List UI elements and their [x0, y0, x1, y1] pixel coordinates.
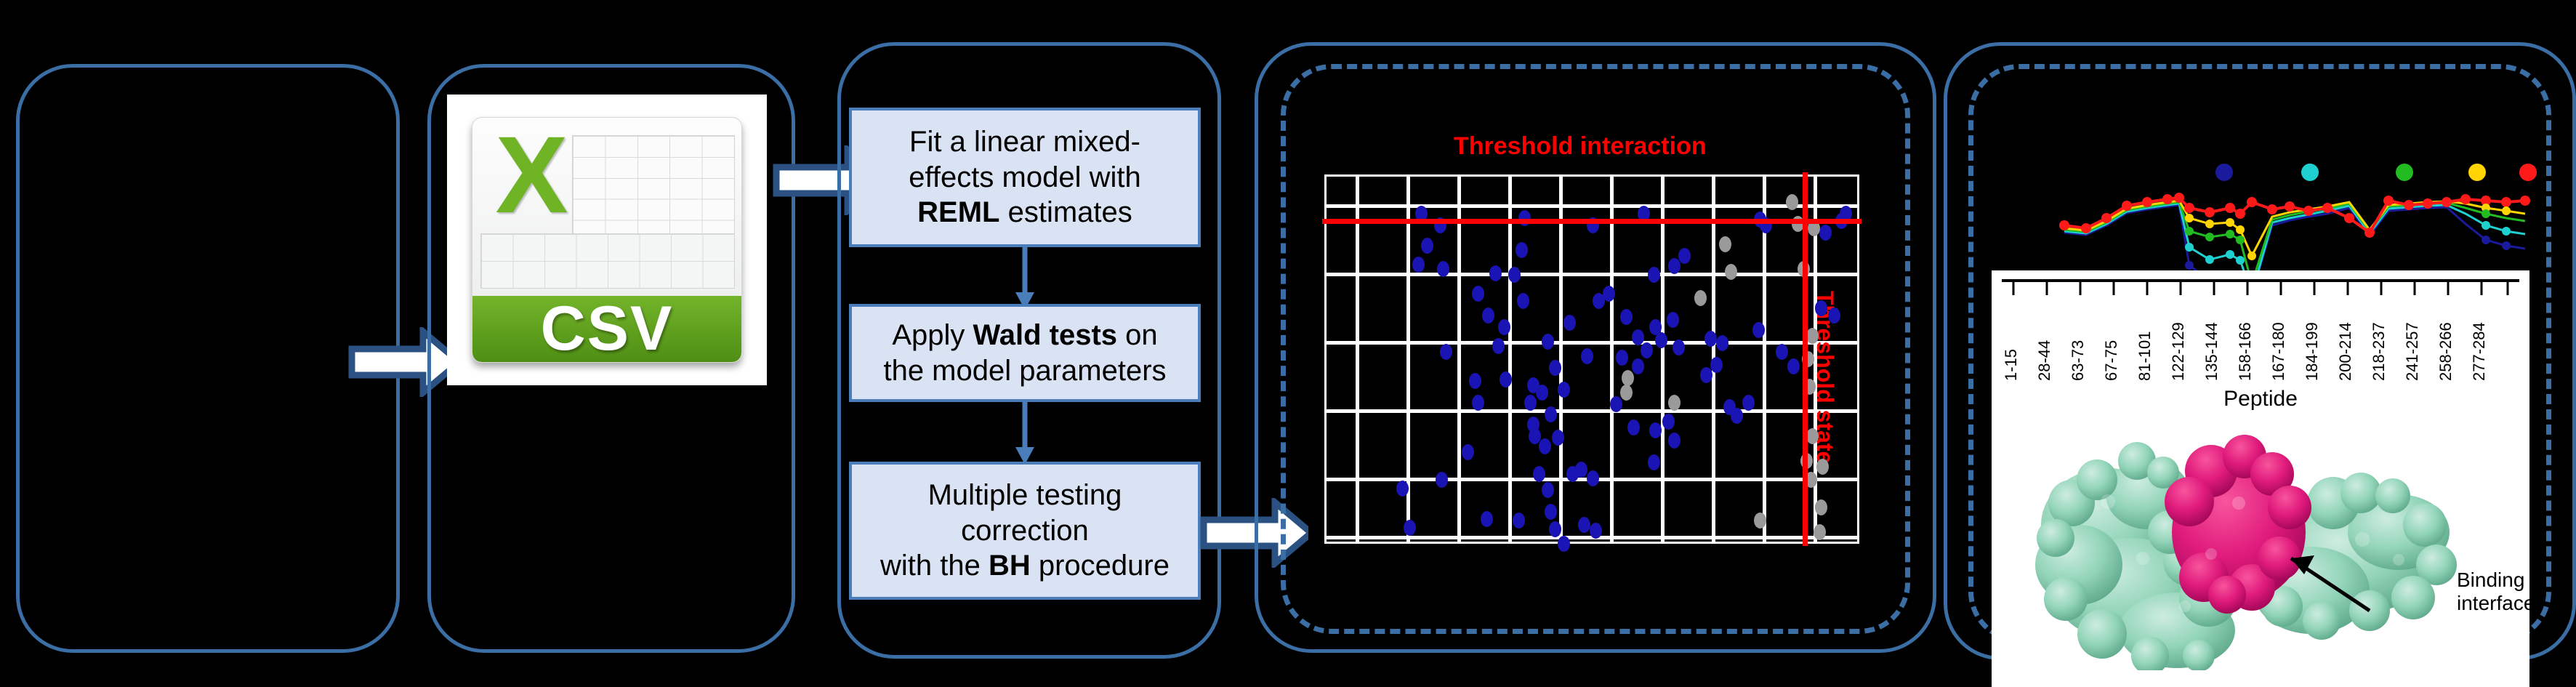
peptide-tick: 1-15 — [2002, 301, 2035, 381]
csv-format-band: CSV — [472, 296, 741, 362]
wald-tests-text: Apply Wald tests on the model parameters — [883, 318, 1166, 389]
y-tick-label: 0.0 — [1992, 270, 1993, 277]
excel-x-glyph: X — [483, 123, 580, 230]
csv-icon-body: X CSV — [472, 117, 742, 363]
threshold-interaction-line — [1322, 219, 1861, 224]
legend-dot-yellow — [2468, 164, 2486, 181]
peptide-tick: 158-166 — [2236, 301, 2269, 381]
scatter-threshold-interaction-label: Threshold interaction — [1454, 132, 1707, 161]
gridline-v — [1457, 177, 1461, 542]
gridline-v — [1356, 177, 1359, 542]
protein-structure-image — [2021, 416, 2471, 670]
pipeline-diagram: X CSV Fit a linear mixed- effects model … — [0, 0, 2576, 687]
peptide-tick: 218-237 — [2370, 301, 2403, 381]
gridline-v — [1610, 177, 1614, 542]
peptide-tick: 258-266 — [2436, 301, 2470, 381]
peptide-tick: 135-144 — [2202, 301, 2236, 381]
peptide-tick: 277-284 — [2470, 301, 2503, 381]
gridline-v — [1508, 177, 1512, 542]
connector-fit-to-wald — [1013, 247, 1037, 311]
csv-format-label: CSV — [541, 293, 674, 363]
fit-model-text: Fit a linear mixed- effects model with R… — [909, 124, 1140, 230]
multiple-testing-text: Multiple testing correction with the BH … — [880, 478, 1170, 584]
peptide-tick: 81-101 — [2136, 301, 2169, 381]
binding-interface-label: Binding interface — [2457, 569, 2529, 615]
legend-dot-navy — [2215, 164, 2233, 181]
csv-file-icon: X CSV — [447, 95, 767, 385]
peptide-tick: 167-180 — [2269, 301, 2303, 381]
gridline-v — [1559, 177, 1563, 542]
peptide-tick: 200-214 — [2336, 301, 2370, 381]
legend-dot-green — [2396, 164, 2413, 181]
peptide-tick-labels: 1-15 28-44 63-73 67-75 81-101 122-129 13… — [2002, 301, 2519, 381]
legend-dot-cyan — [2301, 164, 2319, 181]
peptide-tick: 241-257 — [2403, 301, 2436, 381]
wald-tests-box: Apply Wald tests on the model parameters — [849, 304, 1201, 402]
peptide-tick: 184-199 — [2303, 301, 2336, 381]
connector-wald-to-bh — [1013, 402, 1037, 466]
spreadsheet-grid-lower — [480, 233, 734, 289]
legend-dot-red — [2519, 164, 2537, 181]
stage-1-panel — [16, 64, 400, 653]
peptide-axis-and-structure-card: 1-15 28-44 63-73 67-75 81-101 122-129 13… — [1992, 270, 2529, 687]
peptide-tick: 63-73 — [2069, 301, 2102, 381]
scatter-plot-area — [1324, 174, 1859, 544]
peptide-axis-title: Peptide — [1992, 387, 2529, 411]
peptide-tick: 28-44 — [2035, 301, 2069, 381]
peptide-tick: 67-75 — [2102, 301, 2136, 381]
gridline-v — [1661, 177, 1665, 542]
scatter-plot: Threshold interaction — [1308, 124, 1883, 596]
binding-interface-line-1: Binding — [2457, 569, 2529, 592]
peptide-tick: 122-129 — [2169, 301, 2202, 381]
binding-interface-line-2: interface — [2457, 592, 2529, 615]
fit-model-box: Fit a linear mixed- effects model with R… — [849, 108, 1201, 247]
multiple-testing-box: Multiple testing correction with the BH … — [849, 462, 1201, 600]
threshold-state-line — [1803, 172, 1808, 546]
